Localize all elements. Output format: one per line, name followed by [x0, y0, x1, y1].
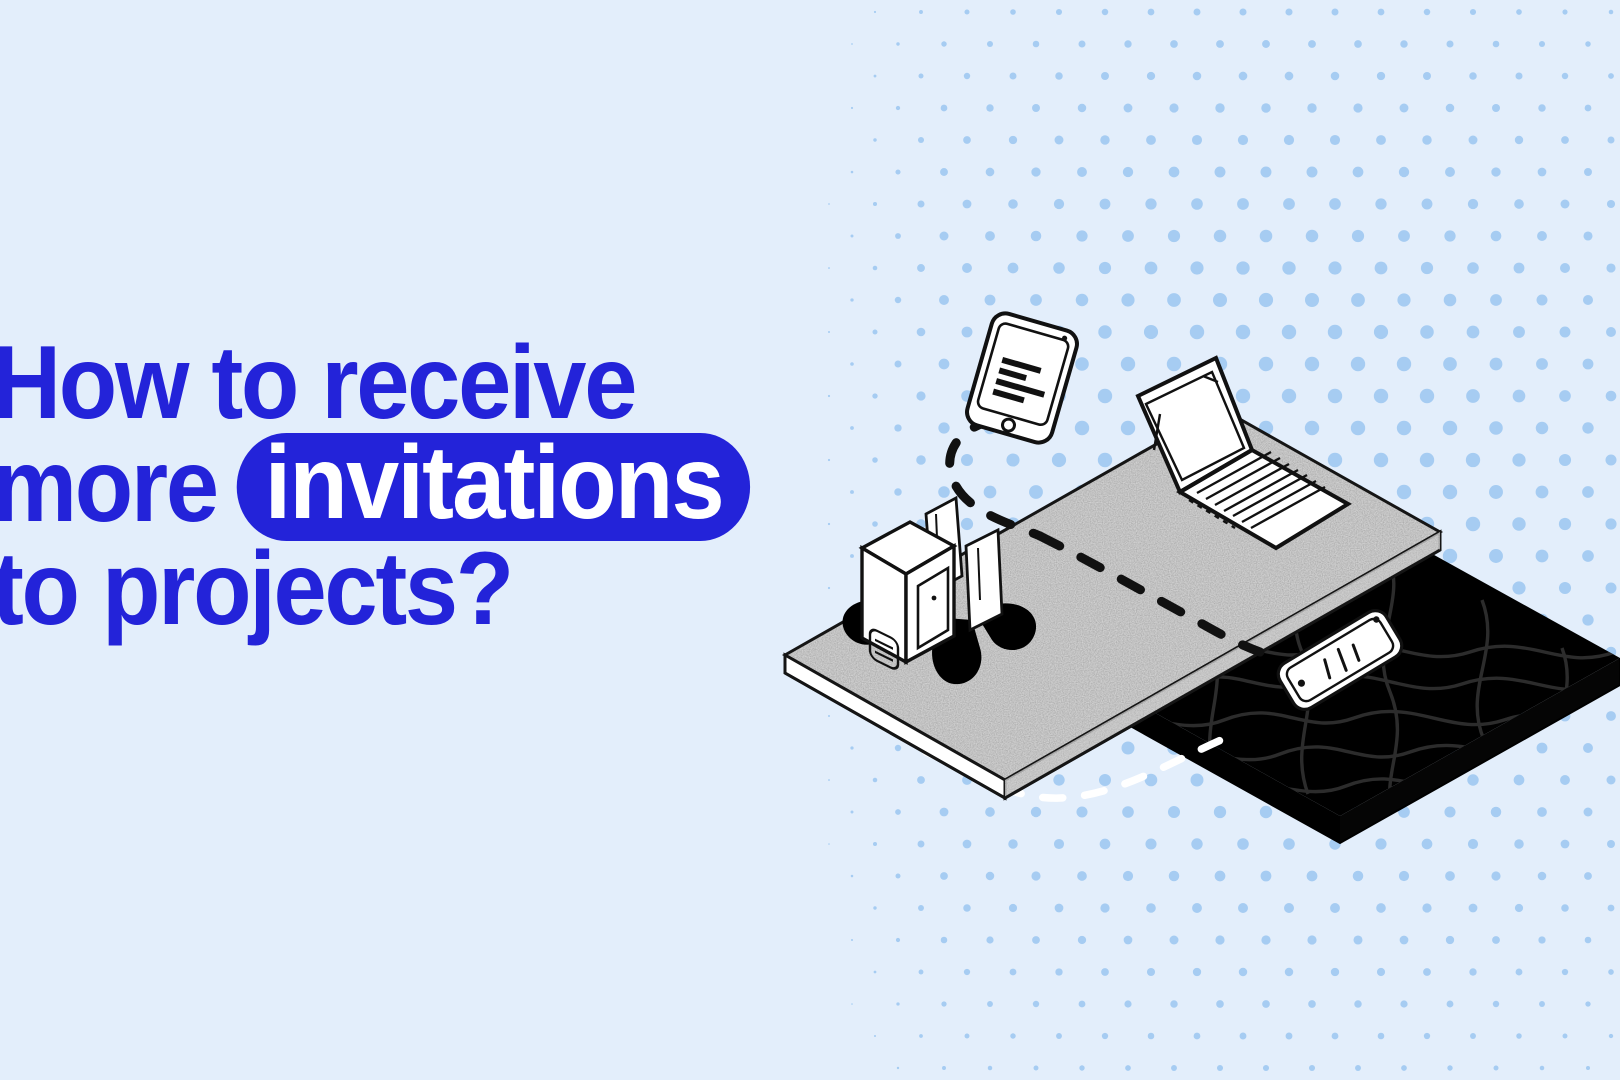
- headline-line-2-prefix: more: [0, 435, 217, 538]
- isometric-devices-illustration: [740, 300, 1620, 860]
- headline-line-2: more invitations: [0, 435, 820, 538]
- page-title: How to receive more invitations to proje…: [0, 332, 820, 641]
- hero-banner: How to receive more invitations to proje…: [0, 0, 1620, 1080]
- headline-highlight-pill: invitations: [237, 433, 750, 541]
- headline-line-1: How to receive: [0, 332, 820, 435]
- headline-line-3: to projects?: [0, 538, 820, 641]
- floating-tablet: [964, 310, 1081, 446]
